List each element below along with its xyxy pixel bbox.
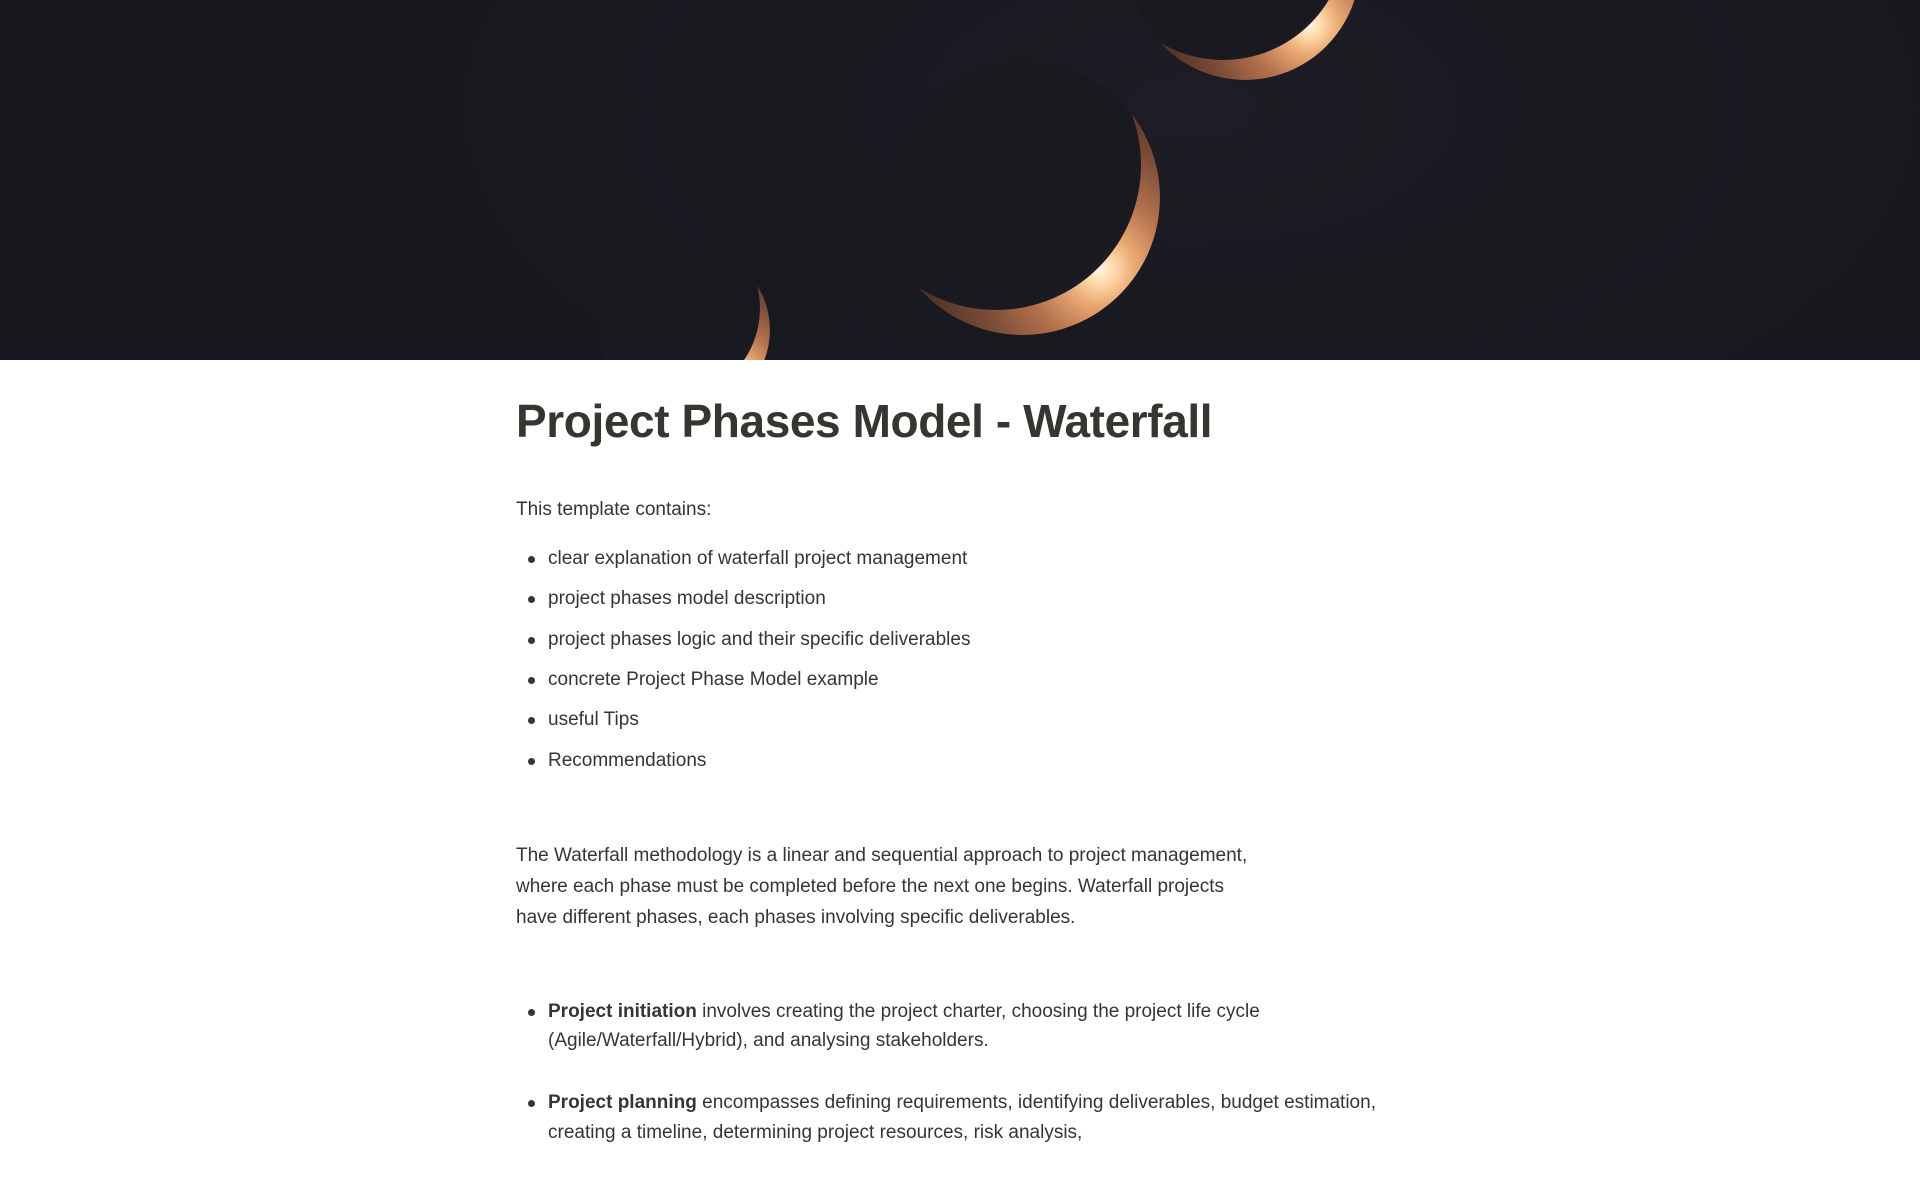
phase-name: Project initiation (548, 1001, 697, 1022)
list-item[interactable]: clear explanation of waterfall project m… (516, 544, 1416, 573)
methodology-paragraph[interactable]: The Waterfall methodology is a linear an… (516, 841, 1256, 933)
template-contents-list: clear explanation of waterfall project m… (516, 525, 1416, 776)
project-phases-list: Project initiation involves creating the… (516, 997, 1416, 1148)
crescent-moon-icon (885, 60, 1160, 335)
paragraph-spacer (516, 934, 1416, 964)
list-item[interactable]: Project planning encompasses defining re… (516, 1088, 1416, 1147)
page-title[interactable]: Project Phases Model - Waterfall (516, 360, 1416, 449)
list-item-label: project phases model description (548, 588, 826, 609)
list-item[interactable]: Project initiation involves creating the… (516, 997, 1416, 1056)
list-item-label: concrete Project Phase Model example (548, 669, 879, 690)
list-item[interactable]: useful Tips (516, 705, 1416, 734)
moon-shadow (600, 245, 760, 360)
phase-name: Project planning (548, 1092, 697, 1113)
list-item-label: project phases logic and their specific … (548, 629, 970, 650)
list-item-label: useful Tips (548, 709, 639, 730)
intro-lead-line[interactable]: This template contains: (516, 449, 1416, 524)
document-page: Project Phases Model - Waterfall This te… (0, 0, 1920, 1199)
section-spacer (516, 775, 1416, 841)
list-item-label: Recommendations (548, 750, 706, 771)
list-item[interactable]: project phases model description (516, 584, 1416, 613)
crescent-moon-icon (600, 245, 770, 360)
list-item[interactable]: Recommendations (516, 746, 1416, 775)
list-item[interactable]: concrete Project Phase Model example (516, 665, 1416, 694)
cover-image[interactable] (0, 0, 1920, 360)
list-item-label: clear explanation of waterfall project m… (548, 548, 967, 569)
document-content: Project Phases Model - Waterfall This te… (0, 360, 1920, 1147)
list-item[interactable]: project phases logic and their specific … (516, 625, 1416, 654)
